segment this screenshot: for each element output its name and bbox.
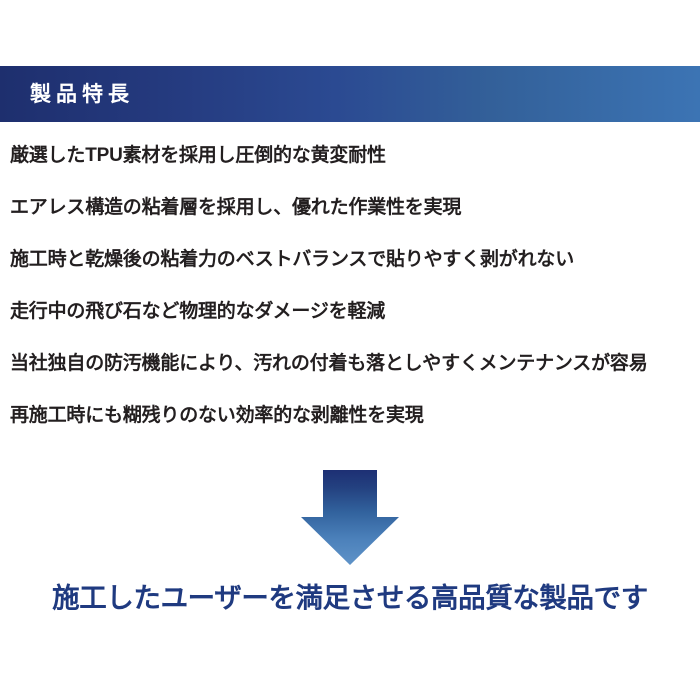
conclusion-block: 施工したユーザーを満足させる高品質な製品です [0, 583, 700, 613]
page-title: 製品特長 [30, 84, 134, 105]
feature-item: 厳選したTPU素材を採用し圧倒的な黄変耐性 [0, 146, 700, 198]
arrow-down-container [298, 470, 402, 568]
conclusion-headline: 施工したユーザーを満足させる高品質な製品です [0, 583, 700, 613]
feature-item: エアレス構造の粘着層を採用し、優れた作業性を実現 [0, 198, 700, 250]
feature-item: 施工時と乾燥後の粘着力のベストバランスで貼りやすく剥がれない [0, 250, 700, 302]
feature-item: 再施工時にも糊残りのない効率的な剥離性を実現 [0, 406, 700, 458]
feature-item: 当社独自の防汚機能により、汚れの付着も落としやすくメンテナンスが容易 [0, 354, 700, 406]
arrow-down-icon [298, 470, 402, 568]
feature-list: 厳選したTPU素材を採用し圧倒的な黄変耐性 エアレス構造の粘着層を採用し、優れた… [0, 146, 700, 458]
feature-item: 走行中の飛び石など物理的なダメージを軽減 [0, 302, 700, 354]
product-features-page: 製品特長 厳選したTPU素材を採用し圧倒的な黄変耐性 エアレス構造の粘着層を採用… [0, 0, 700, 700]
section-header-bar: 製品特長 [0, 66, 700, 122]
